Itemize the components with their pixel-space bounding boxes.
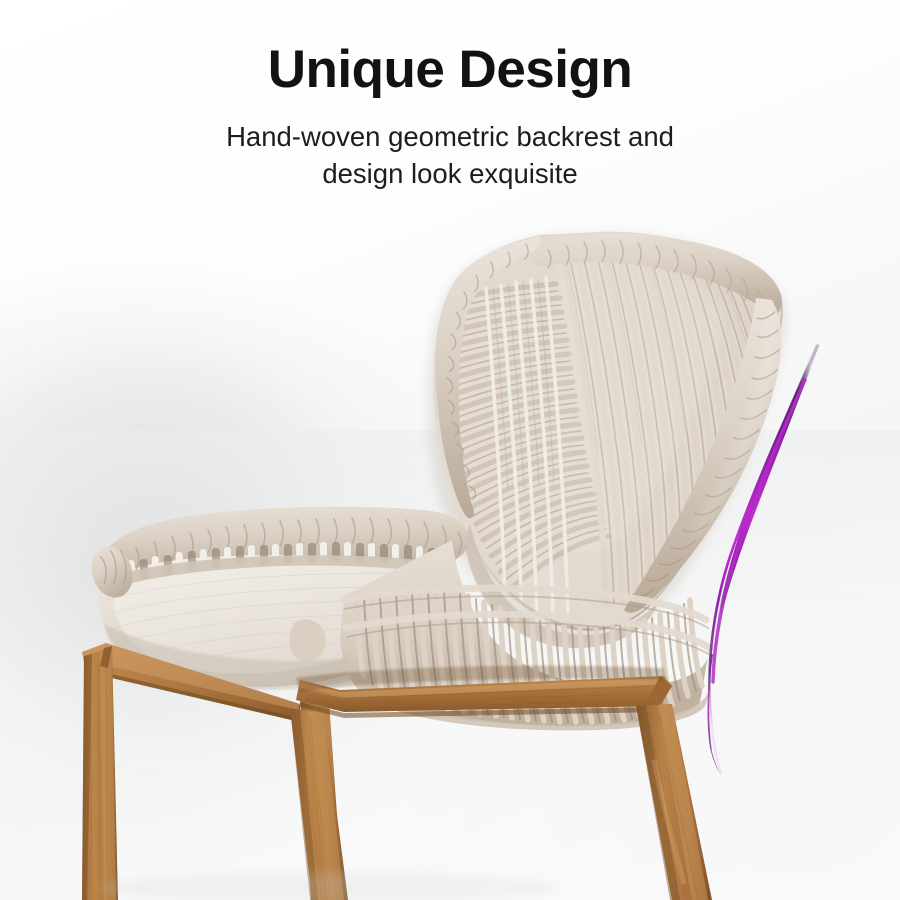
subtitle-line-2: design look exquisite — [0, 156, 900, 193]
chair-mid-left-leg — [290, 708, 348, 900]
product-image-canvas: Unique Design Hand-woven geometric backr… — [0, 0, 900, 900]
chair-front-right-leg — [636, 704, 712, 900]
headline-block: Unique Design Hand-woven geometric backr… — [0, 0, 900, 192]
subtitle-line-1: Hand-woven geometric backrest and — [0, 119, 900, 156]
chair-wood-frame — [82, 643, 712, 900]
page-subtitle: Hand-woven geometric backrest and design… — [0, 119, 900, 192]
page-title: Unique Design — [0, 40, 900, 99]
chair-front-left-leg — [82, 647, 118, 900]
chair-backrest — [420, 215, 800, 648]
